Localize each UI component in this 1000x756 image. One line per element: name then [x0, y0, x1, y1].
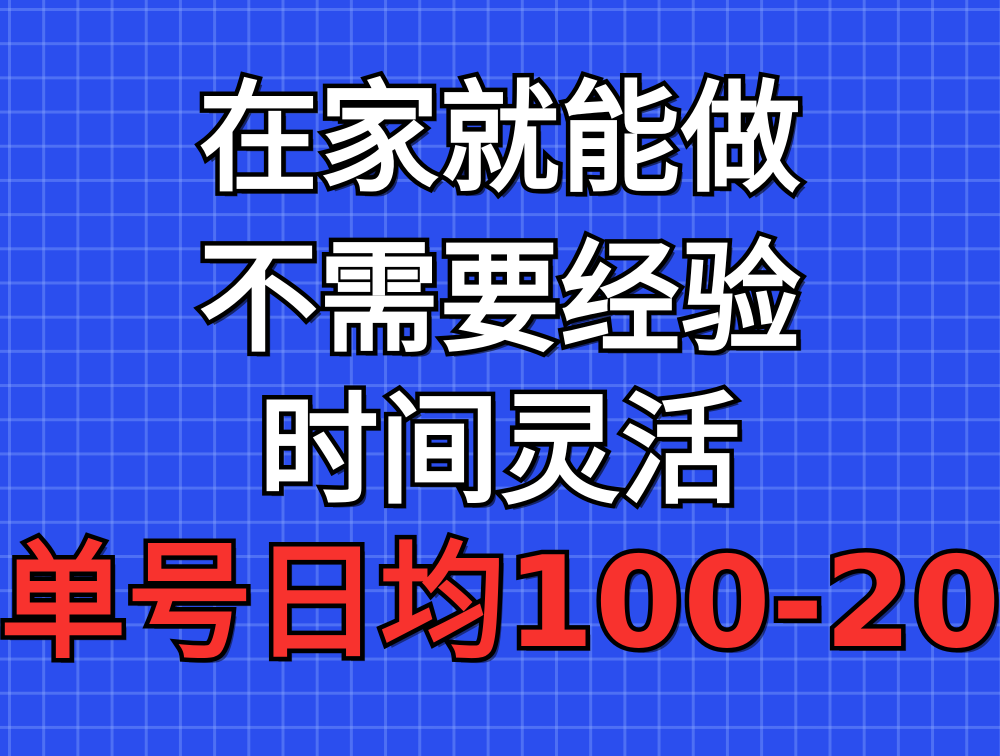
headline-line-2: 不需要经验: [0, 240, 1000, 360]
headline-line-3: 时间灵活: [0, 392, 1000, 512]
headline-line-1: 在家就能做: [0, 80, 1000, 200]
promo-poster: 在家就能做 不需要经验 时间灵活 单号日均100-200: [0, 0, 1000, 756]
poster-text-stack: 在家就能做 不需要经验 时间灵活 单号日均100-200: [0, 0, 1000, 756]
headline-line-4-highlight: 单号日均100-200: [0, 540, 1000, 666]
